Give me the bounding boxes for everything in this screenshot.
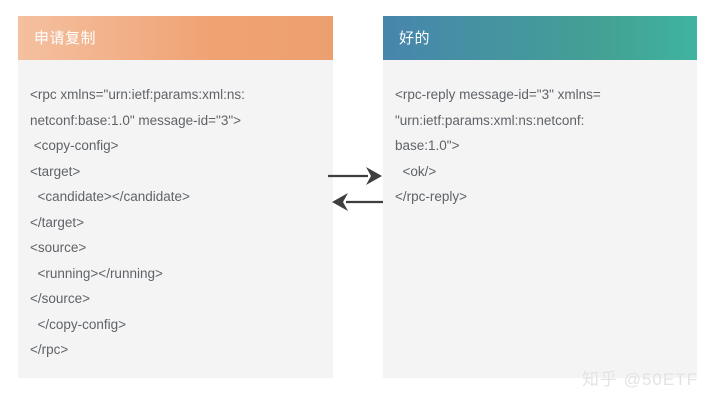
code-line: "urn:ietf:params:xml:ns:netconf: (395, 108, 685, 134)
request-panel-header: 申请复制 (18, 16, 333, 60)
request-panel-title: 申请复制 (34, 31, 96, 46)
code-line: <source> (30, 235, 321, 261)
code-line: </target> (30, 210, 321, 236)
watermark: 知乎 @50ETF (582, 371, 698, 388)
code-line: </source> (30, 286, 321, 312)
reply-panel: 好的 <rpc-reply message-id="3" xmlns= "urn… (383, 16, 697, 378)
code-line: <rpc xmlns="urn:ietf:params:xml:ns: (30, 82, 321, 108)
code-line: <ok/> (395, 159, 685, 185)
request-arrow-right-icon (328, 167, 382, 185)
code-line: <running></running> (30, 261, 321, 287)
code-line: netconf:base:1.0" message-id="3"> (30, 108, 321, 134)
request-panel: 申请复制 <rpc xmlns="urn:ietf:params:xml:ns:… (18, 16, 333, 378)
reply-arrow-left-icon (332, 193, 386, 211)
arrow-group (326, 158, 388, 214)
reply-code-block: <rpc-reply message-id="3" xmlns= "urn:ie… (383, 60, 697, 378)
reply-panel-header: 好的 (383, 16, 697, 60)
code-line: </rpc> (30, 337, 321, 363)
code-line: <target> (30, 159, 321, 185)
code-line: <copy-config> (30, 133, 321, 159)
reply-panel-title: 好的 (399, 31, 430, 46)
code-line: <rpc-reply message-id="3" xmlns= (395, 82, 685, 108)
code-line: </copy-config> (30, 312, 321, 338)
code-line: base:1.0"> (395, 133, 685, 159)
request-code-block: <rpc xmlns="urn:ietf:params:xml:ns: netc… (18, 60, 333, 378)
diagram-stage: 申请复制 <rpc xmlns="urn:ietf:params:xml:ns:… (0, 0, 710, 400)
code-line: </rpc-reply> (395, 184, 685, 210)
code-line: <candidate></candidate> (30, 184, 321, 210)
